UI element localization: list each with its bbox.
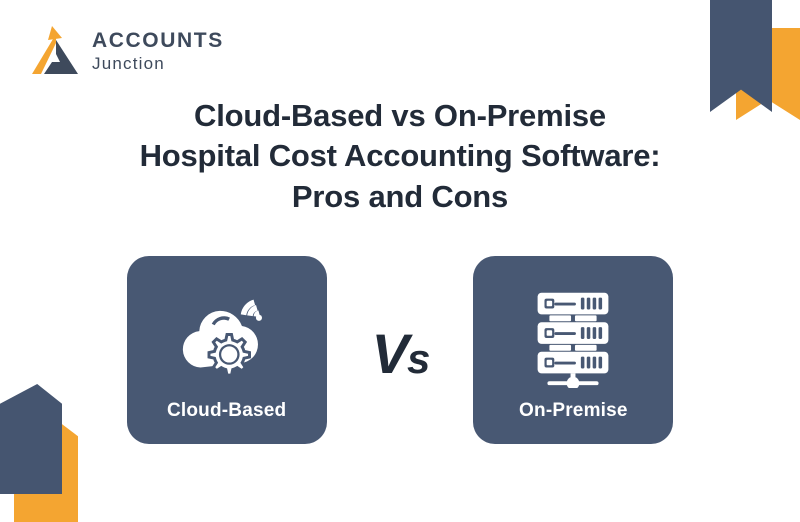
brand-name-primary: ACCOUNTS bbox=[92, 30, 224, 51]
card-cloud-based-label: Cloud-Based bbox=[167, 400, 286, 422]
card-cloud-based[interactable]: Cloud-Based bbox=[127, 256, 327, 444]
title-line-2: Hospital Cost Accounting Software: bbox=[60, 136, 740, 176]
card-on-premise-label: On-Premise bbox=[519, 400, 628, 422]
vs-letter-v: V bbox=[372, 322, 407, 385]
title-line-3: Pros and Cons bbox=[60, 177, 740, 217]
cloud-gear-wifi-icon bbox=[168, 284, 286, 388]
server-rack-icon bbox=[514, 284, 632, 388]
vs-separator: Vs bbox=[372, 326, 429, 382]
mountain-arrow-logo-icon bbox=[26, 24, 82, 78]
card-on-premise[interactable]: On-Premise bbox=[473, 256, 673, 444]
brand-logo[interactable]: ACCOUNTS Junction bbox=[26, 24, 224, 78]
title-line-1: Cloud-Based vs On-Premise bbox=[60, 96, 740, 136]
spacer-left bbox=[327, 350, 372, 351]
brand-wordmark: ACCOUNTS Junction bbox=[92, 30, 224, 72]
comparison-row: Cloud-Based Vs bbox=[0, 255, 800, 445]
brand-name-secondary: Junction bbox=[92, 55, 224, 72]
spacer-right bbox=[428, 350, 473, 351]
poster-canvas: ACCOUNTS Junction Cloud-Based vs On-Prem… bbox=[0, 0, 800, 522]
page-title: Cloud-Based vs On-Premise Hospital Cost … bbox=[0, 96, 800, 217]
vs-letter-s: s bbox=[407, 335, 428, 382]
